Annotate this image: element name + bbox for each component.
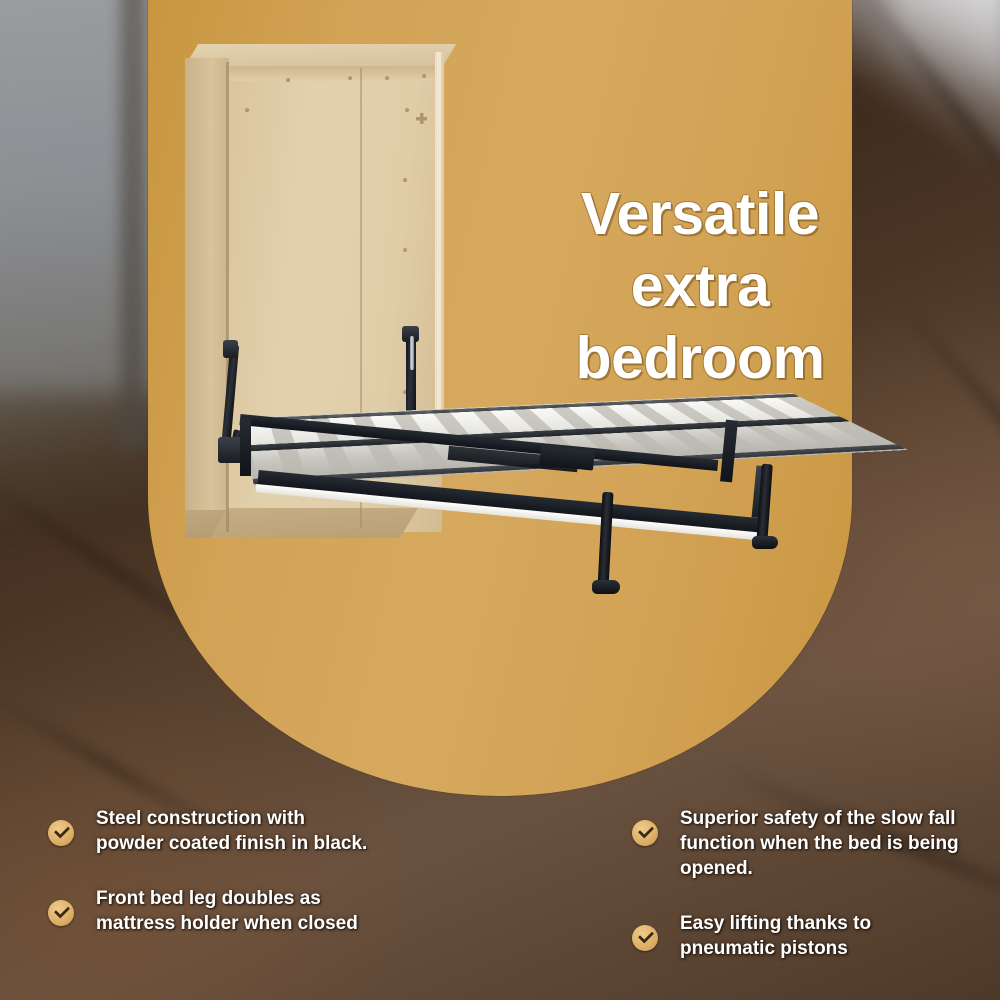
check-icon — [632, 820, 658, 846]
wall-seam — [120, 0, 146, 450]
check-icon — [48, 820, 74, 846]
piston-left-bracket — [223, 340, 238, 358]
page-title: Versatile extra bedroom — [520, 178, 880, 394]
screw-hole — [403, 248, 407, 252]
headline-line-2: extra — [520, 250, 880, 322]
screw-hole — [385, 76, 389, 80]
feature-text: Steel construction with powder coated fi… — [96, 806, 374, 856]
feature-list-right: Superior safety of the slow fall functio… — [628, 806, 968, 991]
screw-hole — [348, 76, 352, 80]
check-icon — [48, 900, 74, 926]
frame-rail-side-left — [240, 418, 251, 476]
feature-item: Easy lifting thanks to pneumatic pistons — [628, 911, 968, 961]
light-streak-corner — [890, 0, 1000, 130]
front-bed-leg-foot — [592, 580, 620, 594]
feature-text: Easy lifting thanks to pneumatic pistons — [680, 911, 968, 961]
cam-lock-cross-icon — [416, 113, 427, 124]
screw-hole — [245, 108, 249, 112]
feature-item: Steel construction with powder coated fi… — [44, 806, 374, 856]
feature-item: Front bed leg doubles as mattress holder… — [44, 886, 374, 936]
feature-text: Front bed leg doubles as mattress holder… — [96, 886, 374, 936]
screw-hole — [403, 178, 407, 182]
screw-hole — [405, 108, 409, 112]
check-icon — [632, 925, 658, 951]
cabinet-inner-top-lip — [228, 66, 442, 81]
headline-line-3: bedroom — [520, 322, 880, 394]
feature-text: Superior safety of the slow fall functio… — [680, 806, 968, 881]
feature-list-left: Steel construction with powder coated fi… — [44, 806, 374, 966]
screw-hole — [422, 74, 426, 78]
screw-hole — [286, 78, 290, 82]
headline-line-1: Versatile — [520, 178, 880, 250]
back-bed-leg-foot — [752, 536, 778, 549]
gas-strut — [410, 336, 414, 370]
feature-item: Superior safety of the slow fall functio… — [628, 806, 968, 881]
